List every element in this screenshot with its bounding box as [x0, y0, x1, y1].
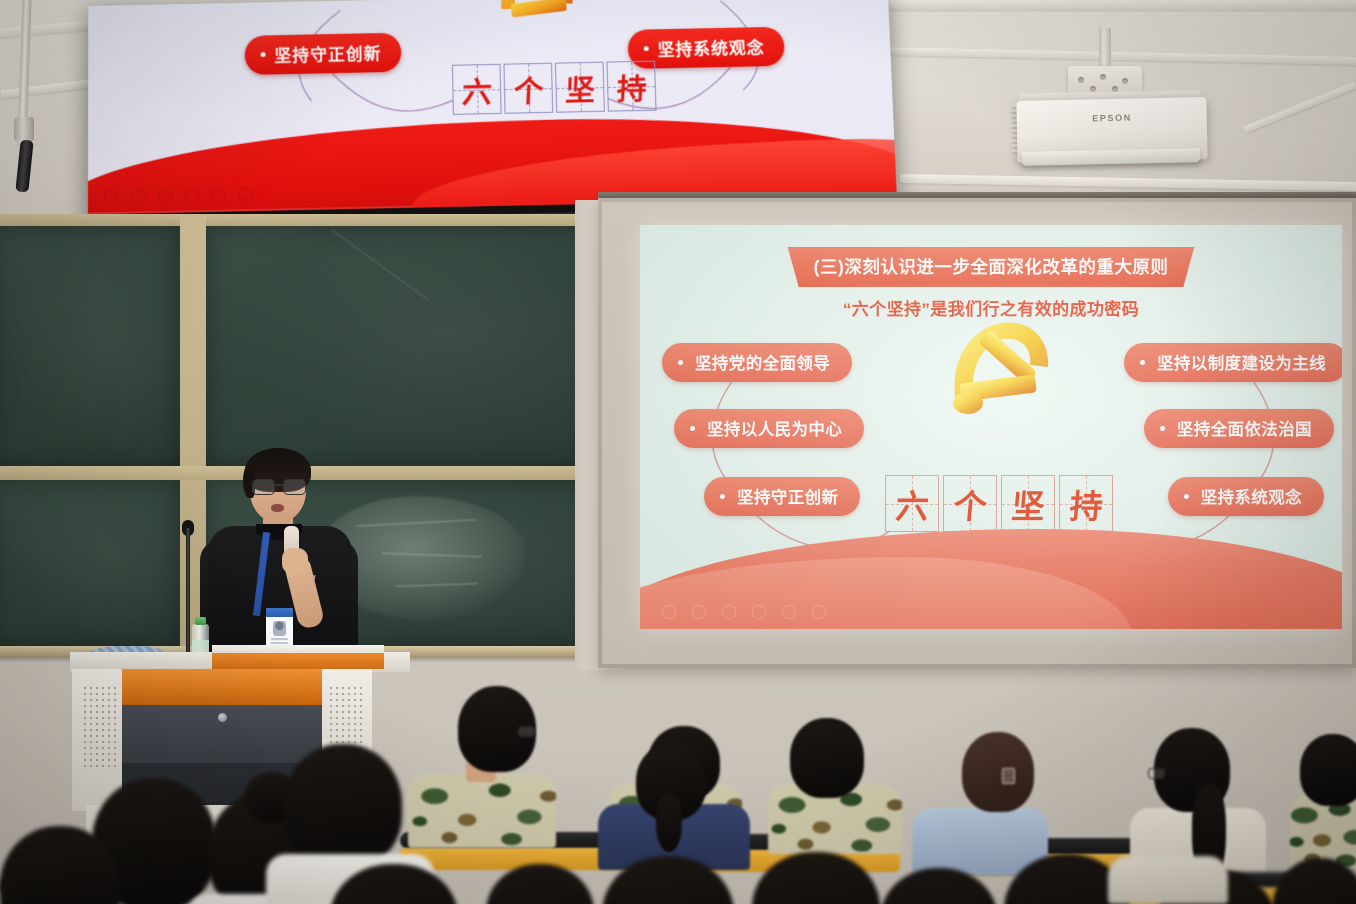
tv-word-glyph: 六: [461, 67, 493, 111]
tv-word-glyph: 持: [616, 64, 648, 108]
slide-watermark-icons: [662, 605, 826, 619]
board-frame-top: [0, 214, 622, 226]
tv-word-glyph: 坚: [564, 65, 596, 109]
slide-word-glyph: 六: [893, 480, 930, 528]
projection-screen[interactable]: (三)深刻认识进一步全面深化改革的重大原则 “六个坚持”是我们行之有效的成功密码: [598, 198, 1356, 668]
bullet-dot: [678, 360, 683, 365]
slide-word-glyph: 坚: [1009, 480, 1046, 528]
slide-title: (三)深刻认识进一步全面深化改革的重大原则: [788, 247, 1195, 287]
hammer-and-sickle-icon: [932, 305, 1060, 433]
slide-center-word-grid: 六 个 坚 持: [885, 475, 1113, 532]
bullet-dot: [690, 426, 695, 431]
tv-pill-left-label: 坚持守正创新: [274, 40, 381, 67]
presenter: ing: [196, 448, 361, 663]
bullet-dot: [644, 46, 649, 51]
slide-pill-right-3-label: 坚持系统观念: [1201, 484, 1302, 508]
lecture-hall-screenshot: 坚持守正创新 坚持系统观念 六 个 坚 持: [0, 0, 1356, 904]
slide-word-cell: 六: [885, 475, 939, 532]
slide-pill-left-2: 坚持以人民为中心: [674, 409, 864, 448]
chalkboard-panel: [0, 480, 180, 646]
student-torso: [1108, 856, 1228, 904]
tv-word-cell: 六: [452, 64, 502, 115]
bullet-dot: [261, 52, 266, 57]
tv-screen: 坚持守正创新 坚持系统观念 六 个 坚 持: [88, 0, 897, 215]
slide-pill-left-3-label: 坚持守正创新: [737, 484, 838, 508]
projection-screen-surface: (三)深刻认识进一步全面深化改革的重大原则 “六个坚持”是我们行之有效的成功密码: [602, 202, 1352, 664]
student-head: [486, 864, 594, 904]
student-head: [1300, 734, 1356, 806]
slide-word-glyph: 个: [951, 480, 988, 528]
presenter-hand: [282, 548, 308, 574]
slide-pill-left-1: 坚持党的全面领导: [662, 343, 852, 382]
presenter-mouth: [271, 504, 284, 512]
slide-word-cell: 个: [943, 475, 997, 532]
slide-word-cell: 坚: [1001, 475, 1055, 532]
bottle-cap: [195, 617, 206, 625]
glasses-icon: [518, 726, 535, 737]
student-head: [790, 718, 864, 798]
audience-area: [0, 656, 1356, 904]
ceiling-beam: [880, 0, 1356, 10]
slide-title-underline: [856, 285, 1126, 287]
slide-pill-right-3: 坚持系统观念: [1168, 477, 1324, 516]
slide-pill-right-2-label: 坚持全面依法治国: [1177, 416, 1312, 440]
tv-pill-left: 坚持守正创新: [245, 33, 402, 75]
slide-pill-right-2: 坚持全面依法治国: [1144, 409, 1334, 448]
tv-word-cell: 持: [606, 61, 656, 112]
student-head: [1272, 858, 1356, 904]
slide-pill-right-1: 坚持以制度建设为主线: [1124, 343, 1342, 382]
slide-pill-left-1-label: 坚持党的全面领导: [695, 350, 830, 374]
slide-pill-left-3: 坚持守正创新: [704, 477, 860, 516]
tv-word-cell: 坚: [555, 62, 605, 113]
glasses-icon: [1148, 768, 1165, 779]
desk-microphone-stand: [186, 528, 190, 652]
bullet-dot: [1184, 494, 1189, 499]
hair-clip: [1002, 768, 1015, 784]
slide-pill-right-1-label: 坚持以制度建设为主线: [1157, 350, 1326, 374]
bullet-dot: [1160, 426, 1165, 431]
tv-word-cell: 个: [503, 63, 553, 114]
id-badge: [266, 608, 293, 647]
bullet-dot: [720, 494, 725, 499]
student-head: [962, 732, 1034, 812]
hammer-and-sickle-icon: [480, 0, 600, 35]
chalkboard-panel: [206, 226, 596, 466]
student-head: [284, 744, 402, 868]
slide-word-glyph: 持: [1067, 480, 1104, 528]
slide-pill-left-2-label: 坚持以人民为中心: [707, 416, 842, 440]
slide-word-cell: 持: [1059, 475, 1113, 532]
ceiling-rod-joint: [14, 117, 34, 141]
tv-pill-right-label: 坚持系统观念: [657, 34, 765, 61]
bullet-dot: [1140, 360, 1145, 365]
tv-center-word-grid: 六 个 坚 持: [452, 61, 657, 115]
chalkboard-panel: [0, 226, 180, 466]
glasses-icon: [252, 479, 304, 493]
student-ponytail: [656, 794, 682, 852]
tv-word-glyph: 个: [512, 66, 544, 110]
student-torso: [408, 774, 556, 848]
projected-slide: (三)深刻认识进一步全面深化改革的重大原则 “六个坚持”是我们行之有效的成功密码: [640, 225, 1342, 629]
